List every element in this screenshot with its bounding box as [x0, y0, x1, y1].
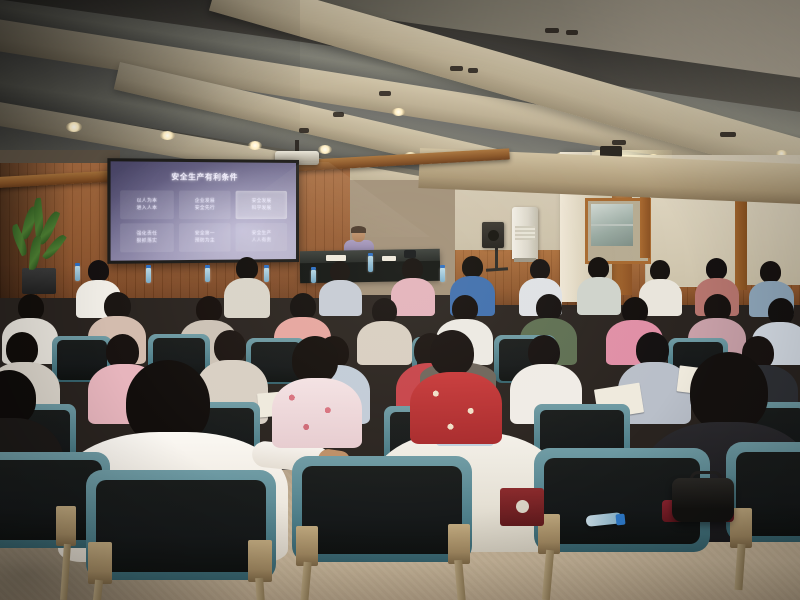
black-bag-on-floor [672, 478, 734, 522]
slide-cell: 以人为本 进入人本 [120, 190, 173, 219]
audience-head [530, 259, 550, 280]
slide-cell-line1: 以人为本 [137, 198, 158, 205]
slide-cell-line2: 安全先行 [195, 205, 215, 212]
slide-content-grid: 以人为本 进入人本 企业发展 安全先行 安全发展 科学发展 强化责任 狠抓落实 … [120, 190, 287, 252]
slide-cell-highlighted: 安全发展 科学发展 [236, 191, 287, 219]
slide-cell: 安全生产 人人有责 [236, 223, 287, 251]
chair-leg [454, 560, 466, 600]
audience-torso [272, 378, 362, 448]
projection-screen-surface: 安全生产有利条件 以人为本 进入人本 企业发展 安全先行 安全发展 科学发展 强… [111, 161, 296, 260]
bag-logo [516, 500, 529, 513]
ceiling-vent [450, 66, 463, 71]
chair-leg [255, 578, 265, 600]
pa-speaker-cone [488, 230, 499, 241]
recessed-downlight [66, 122, 82, 132]
ceiling-vent [333, 112, 344, 117]
audience-head [462, 256, 483, 278]
chair-armrest [88, 542, 112, 584]
recessed-downlight [392, 108, 405, 116]
chair-leg [734, 544, 745, 590]
conference-hall-photo: 安全生产有利条件 以人为本 进入人本 企业发展 安全先行 安全发展 科学发展 强… [0, 0, 800, 600]
slide-cell: 强化责任 狠抓落实 [120, 223, 173, 252]
chair-back [302, 466, 462, 554]
slide-cell-line2: 进入人本 [137, 205, 158, 212]
ceiling-vent [379, 91, 391, 96]
projection-screen: 安全生产有利条件 以人为本 进入人本 企业发展 安全先行 安全发展 科学发展 强… [107, 158, 299, 264]
chair-back [96, 480, 266, 572]
door-glazing-bar [591, 224, 633, 226]
chair-armrest [248, 540, 272, 582]
audience-head [760, 261, 781, 283]
slide-cell-line1: 企业发展 [195, 198, 215, 205]
ceiling-vent [545, 28, 559, 33]
chair-armrest [56, 506, 76, 546]
ceiling-vent [612, 140, 626, 145]
chair-leg [60, 544, 71, 600]
audience-head [330, 261, 350, 282]
door-frame [640, 196, 650, 258]
chair-leg [542, 550, 554, 600]
slide-cell: 安全第一 预防为主 [179, 223, 231, 252]
slide-cell-line2: 科学发展 [252, 205, 272, 212]
audience-head [6, 332, 38, 366]
audience-head [18, 294, 44, 321]
chair-row-front [0, 452, 800, 600]
audience-head [650, 260, 670, 281]
ceiling-vent [720, 132, 736, 137]
audience-torso [410, 372, 502, 444]
presenter-hair [351, 226, 366, 233]
audience-head [236, 257, 258, 280]
ceiling-vent [566, 30, 578, 35]
chair-leg [300, 562, 311, 600]
audience-head [214, 330, 246, 364]
slide-cell: 企业发展 安全先行 [179, 191, 231, 220]
audience-head [536, 294, 562, 321]
audience-head [430, 330, 474, 376]
slide-cell-line2: 人人有责 [252, 237, 272, 244]
audience-head-foreground [690, 352, 768, 432]
slide-cell-line1: 安全发展 [252, 198, 272, 205]
slide-cell-line2: 狠抓落实 [137, 238, 158, 245]
audience-head [290, 293, 316, 320]
ceiling-vent [468, 68, 478, 73]
audience-head [402, 258, 423, 280]
audience-head [88, 260, 109, 282]
audience-head [292, 336, 338, 384]
air-conditioner-grill [515, 226, 535, 240]
chair-armrest [296, 526, 318, 566]
audience-head [706, 258, 727, 280]
slide-title: 安全生产有利条件 [111, 171, 296, 183]
audience-head [588, 257, 609, 279]
water-bottle-cap [615, 514, 625, 526]
slide-cell-line2: 预防为主 [195, 237, 215, 244]
chair-leg [93, 580, 103, 600]
chair-armrest [448, 524, 470, 564]
